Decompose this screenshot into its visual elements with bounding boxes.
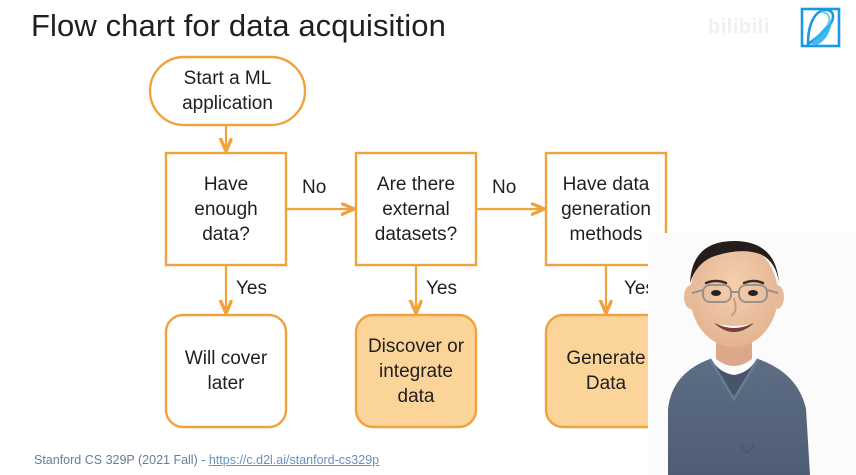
footer: Stanford CS 329P (2021 Fall) - https://c… [34,453,379,467]
node-discover-or-integrate-data[interactable]: Discover or integrate data [356,315,476,427]
edge-label-have-enough-data-yes: Yes [236,278,267,300]
footer-prefix: Stanford CS 329P (2021 Fall) - [34,453,209,467]
presenter-figure [648,233,856,475]
edge-label-external-datasets-no: No [492,177,516,199]
edge-label-external-datasets-yes: Yes [426,278,457,300]
node-external-datasets[interactable]: Are there external datasets? [356,153,476,265]
node-start[interactable]: Start a ML application [150,57,305,125]
edge-label-have-enough-data-no: No [302,177,326,199]
presenter-video-overlay [648,233,856,475]
node-have-enough-data[interactable]: Have enough data? [166,153,286,265]
node-will-cover-later[interactable]: Will cover later [166,315,286,427]
slide-canvas: Flow chart for data acquisition bilibili [0,0,856,475]
footer-link[interactable]: https://c.d2l.ai/stanford-cs329p [209,453,379,467]
